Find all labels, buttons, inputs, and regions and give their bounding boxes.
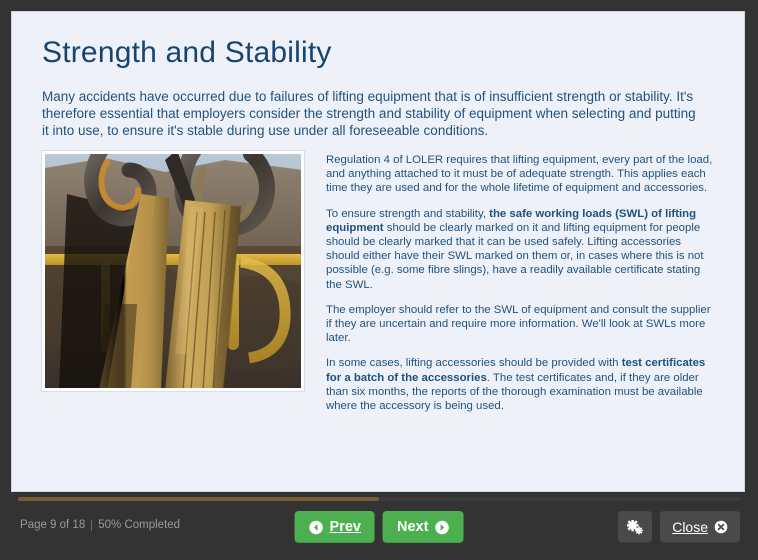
text-column: Regulation 4 of LOLER requires that lift… [326, 151, 716, 413]
prev-button-label: Prev [330, 519, 361, 535]
arrow-circle-right-icon [434, 520, 449, 535]
next-button-label: Next [397, 519, 428, 535]
completion-label: 50% Completed [98, 518, 180, 532]
next-button[interactable]: Next [383, 511, 463, 543]
navigation-buttons: Prev Next [295, 511, 464, 543]
page-status: Page 9 of 18 50% Completed [20, 518, 180, 532]
body-paragraph-2: To ensure strength and stability, the sa… [326, 207, 716, 292]
content-columns: Regulation 4 of LOLER requires that lift… [42, 151, 716, 413]
slide-content: Strength and Stability Many accidents ha… [12, 12, 744, 423]
body-paragraph-1: Regulation 4 of LOLER requires that lift… [326, 153, 716, 196]
course-player: Strength and Stability Many accidents ha… [0, 0, 758, 560]
close-button-label: Close [672, 519, 708, 535]
player-toolbar: Page 9 of 18 50% Completed Prev Next [0, 504, 758, 560]
cogs-icon [627, 520, 644, 535]
body-paragraph-3: The employer should refer to the SWL of … [326, 303, 716, 346]
utility-buttons: Close [618, 511, 740, 543]
lifting-slings-photo [45, 154, 301, 388]
media-column [42, 151, 304, 391]
page-title: Strength and Stability [42, 36, 716, 70]
lifting-slings-illustration [45, 154, 301, 388]
status-separator [91, 520, 92, 531]
photo-frame [42, 151, 304, 391]
page-number-label: Page 9 of 18 [20, 518, 85, 532]
progress-fill [18, 497, 379, 501]
slide-panel: Strength and Stability Many accidents ha… [11, 11, 745, 492]
intro-paragraph: Many accidents have occurred due to fail… [42, 88, 704, 139]
close-button[interactable]: Close [660, 511, 740, 543]
progress-track [18, 497, 740, 501]
prev-button[interactable]: Prev [295, 511, 375, 543]
body-paragraph-4: In some cases, lifting accessories shoul… [326, 356, 716, 413]
settings-button[interactable] [618, 511, 652, 543]
arrow-circle-left-icon [309, 520, 324, 535]
times-circle-icon [714, 520, 728, 534]
